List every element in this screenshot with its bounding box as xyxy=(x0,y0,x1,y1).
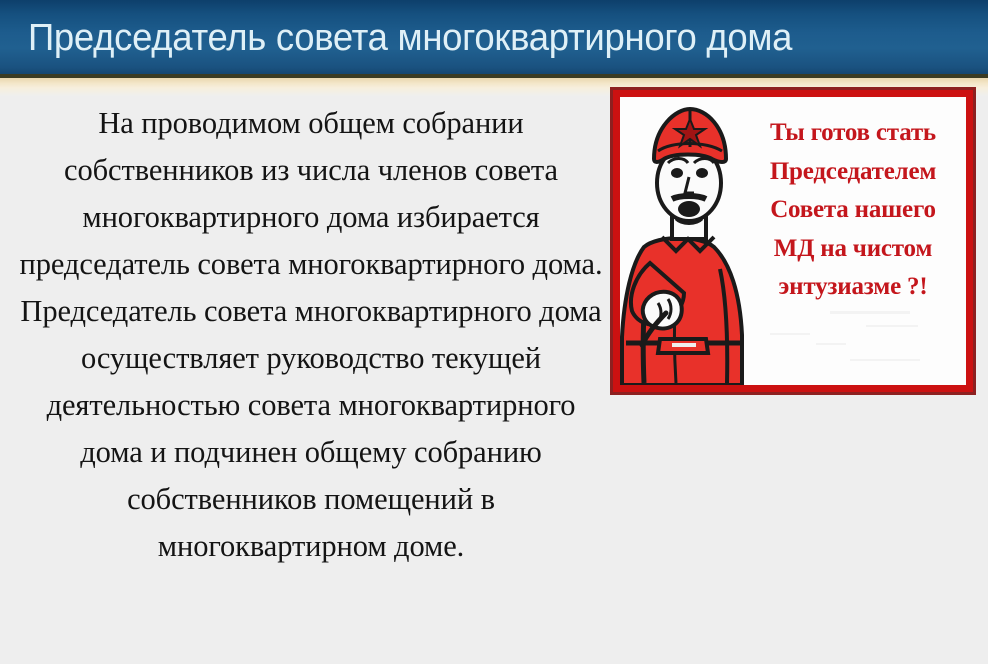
paper-texture-mark xyxy=(850,359,920,361)
soldier-pointing-icon xyxy=(620,97,748,385)
poster-line-5: энтузиазме ?! xyxy=(738,268,966,307)
body-paragraph-2: Председатель совета многоквартирного дом… xyxy=(14,288,608,570)
paper-texture-mark xyxy=(770,333,810,335)
page-title: Председатель совета многоквартирного дом… xyxy=(28,14,792,62)
paper-texture-mark xyxy=(866,325,918,327)
poster-line-3: Совета нашего xyxy=(738,191,966,230)
poster-line-4: МД на чистом xyxy=(738,230,966,269)
poster-slogan: Ты готов стать Председателем Совета наше… xyxy=(738,114,966,307)
slide-title-bar: Председатель совета многоквартирного дом… xyxy=(0,0,988,78)
poster-line-2: Председателем xyxy=(738,153,966,192)
body-text-block: На проводимом общем собрании собственник… xyxy=(14,100,608,570)
slide: Председатель совета многоквартирного дом… xyxy=(0,0,988,664)
propaganda-poster: Ты готов стать Председателем Совета наше… xyxy=(613,90,973,392)
poster-line-1: Ты готов стать xyxy=(738,114,966,153)
paper-texture-mark xyxy=(830,311,910,314)
paper-texture-mark xyxy=(816,343,846,345)
poster-inner: Ты готов стать Председателем Совета наше… xyxy=(620,97,966,385)
body-paragraph-1: На проводимом общем собрании собственник… xyxy=(14,100,608,288)
